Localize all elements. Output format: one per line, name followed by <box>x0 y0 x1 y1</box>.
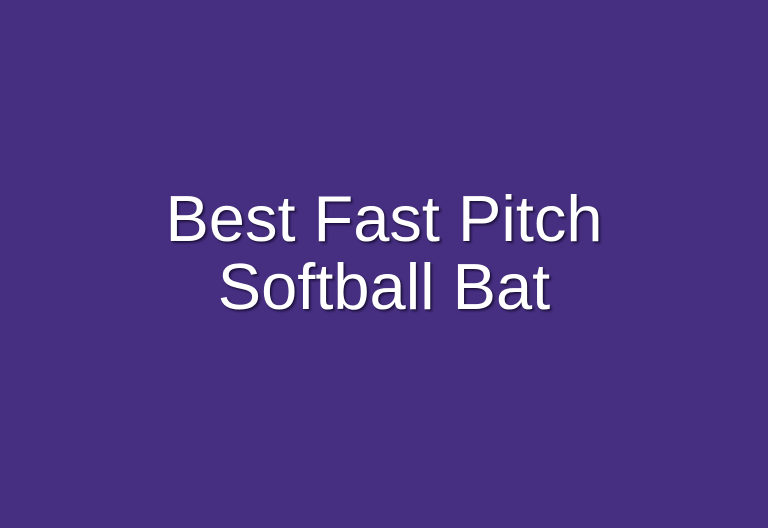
banner-content: Best Fast Pitch Softball Bat <box>39 185 729 321</box>
hero-banner: Best Fast Pitch Softball Bat <box>0 0 768 528</box>
page-title: Best Fast Pitch Softball Bat <box>53 185 715 321</box>
